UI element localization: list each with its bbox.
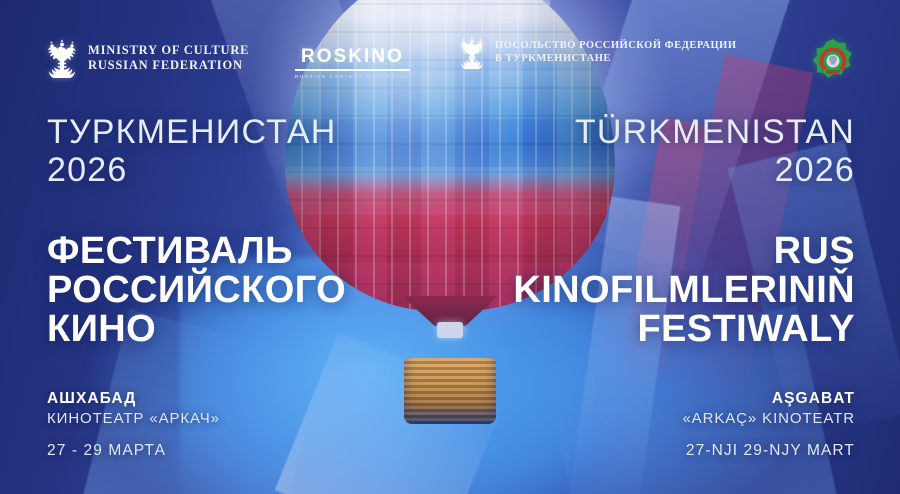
roskino-tagline: RUSSIAN CONTENT WORLDWIDE xyxy=(295,74,410,79)
headline-right-line-1: RUS xyxy=(513,232,855,271)
russian-double-headed-eagle-icon xyxy=(45,38,79,78)
moc-line-2: RUSSIAN FEDERATION xyxy=(88,58,249,73)
venue-left: КИНОТЕАТР «АРКАЧ» xyxy=(47,409,220,428)
festival-poster: MINISTRY OF CULTURE RUSSIAN FEDERATION R… xyxy=(0,0,900,494)
country-name-ru: ТУРКМЕНИСТАН xyxy=(47,113,337,151)
headline-left-line-2: РОССИЙСКОГО xyxy=(47,271,346,310)
russian-double-headed-eagle-icon xyxy=(458,36,486,69)
embassy-label: ПОСОЛЬСТВО РОССИЙСКОЙ ФЕДЕРАЦИИ В ТУРКМЕ… xyxy=(495,40,737,66)
roskino-wordmark: ROSKINO xyxy=(295,46,410,71)
headline-left-line-1: ФЕСТИВАЛЬ xyxy=(47,232,346,271)
embassy-logo: ПОСОЛЬСТВО РОССИЙСКОЙ ФЕДЕРАЦИИ В ТУРКМЕ… xyxy=(458,36,737,69)
headline-right-line-2: KINOFILMLERINIŇ xyxy=(513,271,855,310)
headline-right: RUS KINOFILMLERINIŇ FESTIWALY xyxy=(513,232,855,349)
embassy-line-1: ПОСОЛЬСТВО РОССИЙСКОЙ ФЕДЕРАЦИИ xyxy=(495,40,737,53)
dates-left: 27 - 29 МАРТА xyxy=(47,441,220,461)
year-left: 2026 xyxy=(47,151,337,189)
roskino-logo: ROSKINO RUSSIAN CONTENT WORLDWIDE xyxy=(295,46,410,79)
year-right: 2026 xyxy=(575,151,855,189)
logo-row: MINISTRY OF CULTURE RUSSIAN FEDERATION R… xyxy=(0,0,900,110)
turkmenistan-state-emblem-icon xyxy=(810,38,856,84)
dates-right: 27-NJI 29-NJY MART xyxy=(682,441,855,461)
city-left: АШХАБАД xyxy=(47,389,220,409)
ministry-of-culture-logo: MINISTRY OF CULTURE RUSSIAN FEDERATION xyxy=(45,38,249,78)
venue-right: «ARKAÇ» KINOTEATR xyxy=(682,409,855,428)
ministry-of-culture-label: MINISTRY OF CULTURE RUSSIAN FEDERATION xyxy=(88,43,249,74)
country-year-left: ТУРКМЕНИСТАН 2026 xyxy=(47,113,337,189)
venue-info-left: АШХАБАД КИНОТЕАТР «АРКАЧ» 27 - 29 МАРТА xyxy=(47,389,220,461)
headline-right-line-3: FESTIWALY xyxy=(513,310,855,349)
country-name-tk: TÜRKMENISTAN xyxy=(575,113,855,151)
city-right: AŞGABAT xyxy=(682,389,855,409)
venue-info-right: AŞGABAT «ARKAÇ» KINOTEATR 27-NJI 29-NJY … xyxy=(682,389,855,461)
moc-line-1: MINISTRY OF CULTURE xyxy=(88,43,249,58)
country-year-right: TÜRKMENISTAN 2026 xyxy=(575,113,855,189)
headline-left-line-3: КИНО xyxy=(47,310,346,349)
headline-left: ФЕСТИВАЛЬ РОССИЙСКОГО КИНО xyxy=(47,232,346,349)
embassy-line-2: В ТУРКМЕНИСТАНЕ xyxy=(495,53,737,66)
balloon-basket xyxy=(404,358,496,424)
